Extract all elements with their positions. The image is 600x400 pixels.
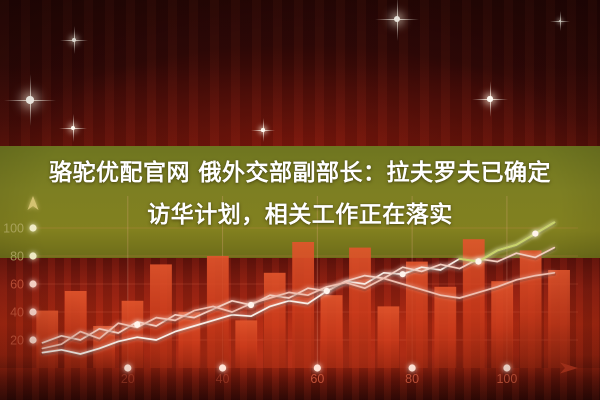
svg-text:100: 100 [496, 372, 517, 386]
svg-text:20: 20 [10, 334, 24, 348]
svg-text:40: 40 [10, 306, 24, 320]
headline-line-2: 访华计划，相关工作正在落实 [0, 194, 600, 236]
svg-text:60: 60 [10, 278, 24, 292]
svg-text:80: 80 [10, 250, 24, 264]
headline-line-1: 骆驼优配官网 俄外交部副部长：拉夫罗夫已确定 [0, 152, 600, 194]
svg-text:60: 60 [310, 372, 324, 386]
svg-text:40: 40 [216, 372, 230, 386]
svg-text:20: 20 [121, 372, 135, 386]
promo-banner: 2040608010020406080100 骆驼优配官网 俄外交部副部长：拉夫… [0, 0, 600, 400]
svg-text:80: 80 [405, 372, 419, 386]
page-title: 骆驼优配官网 俄外交部副部长：拉夫罗夫已确定 访华计划，相关工作正在落实 [0, 152, 600, 236]
